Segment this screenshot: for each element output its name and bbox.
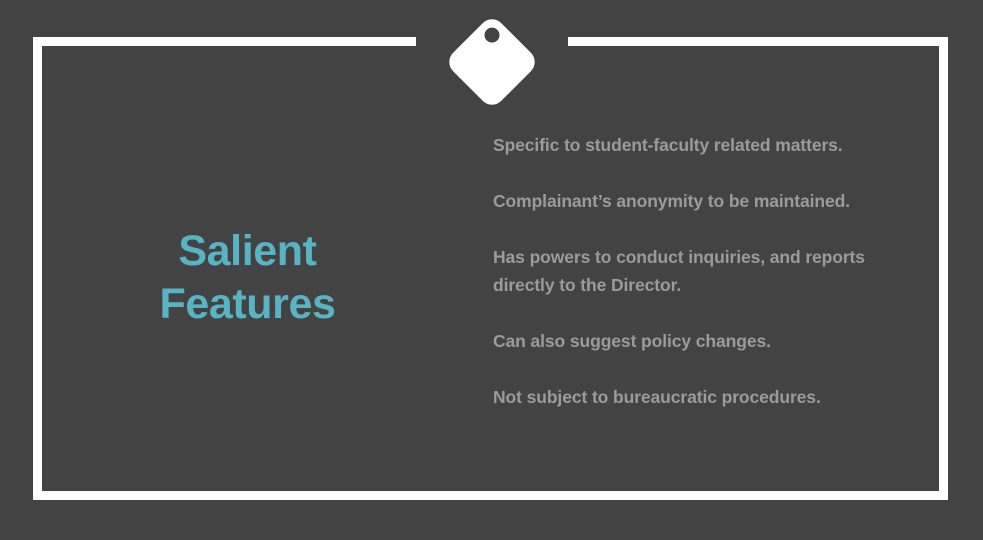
frame-border-top-right bbox=[568, 37, 948, 46]
frame-border-right bbox=[939, 37, 948, 500]
page-title-line-1: Salient bbox=[60, 225, 435, 278]
list-item: Can also suggest policy changes. bbox=[493, 327, 923, 355]
list-item: Has powers to conduct inquiries, and rep… bbox=[493, 243, 923, 299]
slide-canvas: Salient Features Specific to student-fac… bbox=[0, 0, 983, 540]
frame-border-top-left bbox=[33, 37, 416, 46]
list-item: Specific to student-faculty related matt… bbox=[493, 131, 923, 159]
frame-border-bottom bbox=[33, 491, 948, 500]
page-title-line-2: Features bbox=[60, 278, 435, 331]
tag-icon bbox=[440, 12, 544, 112]
list-item: Complainant’s anonymity to be maintained… bbox=[493, 187, 923, 215]
list-item: Not subject to bureaucratic procedures. bbox=[493, 383, 923, 411]
page-title: Salient Features bbox=[60, 225, 435, 331]
frame-border-left bbox=[33, 37, 42, 500]
features-list: Specific to student-faculty related matt… bbox=[493, 131, 923, 411]
